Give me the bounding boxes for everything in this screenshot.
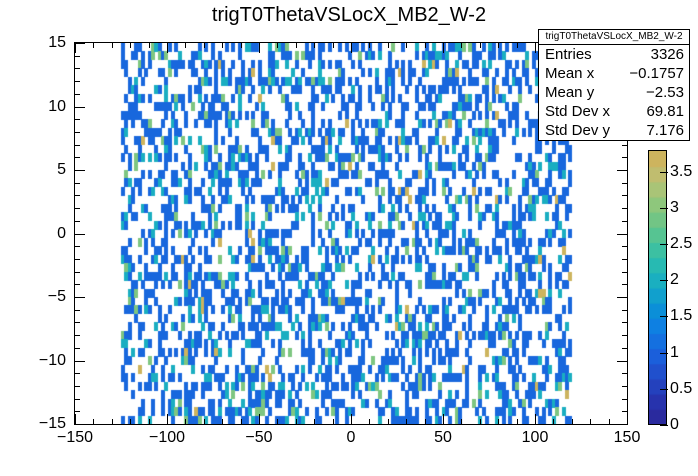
x-axis-major-tick-top	[351, 43, 352, 53]
stats-row: Std Dev x69.81	[539, 102, 689, 121]
color-bar-tick	[660, 172, 668, 173]
x-axis-minor-tick	[241, 419, 242, 424]
x-axis-major-tick	[75, 414, 76, 424]
y-axis-minor-tick-right	[622, 195, 627, 196]
x-axis-minor-tick-top	[498, 43, 499, 48]
x-axis-minor-tick-top	[277, 43, 278, 48]
y-axis-minor-tick-right	[622, 386, 627, 387]
stats-row-value: 69.81	[646, 102, 684, 121]
x-axis-major-tick	[535, 414, 536, 424]
x-axis-minor-tick-top	[425, 43, 426, 48]
stats-rows: Entries3326Mean x−0.1757Mean y−2.53Std D…	[539, 45, 689, 140]
y-axis-minor-tick-right	[622, 145, 627, 146]
x-axis-tick-label: 0	[347, 429, 356, 447]
y-axis-minor-tick	[75, 310, 80, 311]
y-axis-minor-tick-right	[622, 208, 627, 209]
x-axis-minor-tick	[572, 419, 573, 424]
y-axis-minor-tick	[75, 81, 80, 82]
y-axis-tick-label: 15	[0, 34, 66, 52]
y-axis-major-tick	[75, 234, 85, 235]
color-bar-tick-label: 3.5	[670, 163, 692, 181]
root-canvas: trigT0ThetaVSLocX_MB2_W-2 −150−100−50050…	[0, 0, 698, 476]
color-bar-tick-label: 0	[670, 416, 679, 434]
y-axis-minor-tick	[75, 145, 80, 146]
stats-row: Mean x−0.1757	[539, 64, 689, 83]
color-bar-tick-label: 2.5	[670, 235, 692, 253]
x-axis-minor-tick-top	[333, 43, 334, 48]
x-axis-minor-tick	[204, 419, 205, 424]
x-axis-minor-tick	[425, 419, 426, 424]
stats-row-value: −0.1757	[629, 64, 684, 83]
x-axis-minor-tick	[314, 419, 315, 424]
y-axis-minor-tick-right	[622, 348, 627, 349]
x-axis-minor-tick	[222, 419, 223, 424]
y-axis-major-tick	[75, 170, 85, 171]
x-axis-minor-tick	[277, 419, 278, 424]
y-axis-minor-tick	[75, 399, 80, 400]
color-bar-gradient	[649, 151, 666, 424]
y-axis-minor-tick	[75, 322, 80, 323]
x-axis-minor-tick-top	[149, 43, 150, 48]
color-bar-tick	[660, 244, 668, 245]
stats-row: Mean y−2.53	[539, 83, 689, 102]
y-axis-tick-label: 10	[0, 98, 66, 116]
x-axis-minor-tick	[333, 419, 334, 424]
stats-row-value: −2.53	[646, 83, 684, 102]
y-axis-major-tick-right	[617, 234, 627, 235]
stats-row: Entries3326	[539, 45, 689, 64]
x-axis-tick-label: 50	[434, 429, 452, 447]
y-axis-major-tick-right	[617, 297, 627, 298]
y-axis-tick-label: −5	[0, 288, 66, 306]
y-axis-tick-label: 5	[0, 161, 66, 179]
stats-row-value: 7.176	[646, 121, 684, 140]
x-axis-minor-tick	[480, 419, 481, 424]
y-axis-minor-tick-right	[622, 373, 627, 374]
y-axis-minor-tick-right	[622, 157, 627, 158]
y-axis-minor-tick-right	[622, 221, 627, 222]
x-axis-major-tick	[259, 414, 260, 424]
x-axis-major-tick-top	[259, 43, 260, 53]
x-axis-minor-tick-top	[388, 43, 389, 48]
y-axis-minor-tick	[75, 157, 80, 158]
color-bar-tick	[660, 389, 668, 390]
y-axis-minor-tick	[75, 56, 80, 57]
x-axis-minor-tick-top	[93, 43, 94, 48]
color-bar-tick	[660, 425, 668, 426]
page-title: trigT0ThetaVSLocX_MB2_W-2	[0, 4, 698, 27]
y-axis-minor-tick-right	[622, 399, 627, 400]
y-axis-minor-tick-right	[622, 259, 627, 260]
y-axis-minor-tick-right	[622, 335, 627, 336]
y-axis-minor-tick	[75, 348, 80, 349]
y-axis-major-tick	[75, 424, 85, 425]
y-axis-major-tick-right	[617, 361, 627, 362]
y-axis-minor-tick-right	[622, 246, 627, 247]
y-axis-minor-tick	[75, 221, 80, 222]
x-axis-minor-tick	[185, 419, 186, 424]
stats-row: Std Dev y7.176	[539, 121, 689, 140]
x-axis-minor-tick	[130, 419, 131, 424]
stats-box[interactable]: trigT0ThetaVSLocX_MB2_W-2 Entries3326Mea…	[538, 29, 690, 141]
x-axis-tick-label: 100	[522, 429, 549, 447]
y-axis-tick-label: 0	[0, 225, 66, 243]
stats-row-key: Mean y	[545, 83, 594, 102]
color-bar-tick-label: 1.5	[670, 307, 692, 325]
stats-row-value: 3326	[651, 45, 684, 64]
x-axis-tick-label: −100	[149, 429, 185, 447]
color-bar-tick-label: 3	[670, 199, 679, 217]
y-axis-minor-tick	[75, 373, 80, 374]
x-axis-major-tick	[627, 414, 628, 424]
stats-row-key: Std Dev x	[545, 102, 610, 121]
y-axis-minor-tick	[75, 119, 80, 120]
x-axis-major-tick-top	[167, 43, 168, 53]
x-axis-minor-tick-top	[185, 43, 186, 48]
x-axis-minor-tick-top	[241, 43, 242, 48]
color-bar-tick-label: 2	[670, 271, 679, 289]
y-axis-major-tick	[75, 43, 85, 44]
y-axis-minor-tick	[75, 94, 80, 95]
color-bar-tick-label: 0.5	[670, 380, 692, 398]
y-axis-tick-label: −15	[0, 415, 66, 433]
y-axis-minor-tick-right	[622, 272, 627, 273]
y-axis-minor-tick	[75, 284, 80, 285]
x-axis-minor-tick	[388, 419, 389, 424]
y-axis-major-tick-right	[617, 170, 627, 171]
y-axis-minor-tick	[75, 208, 80, 209]
y-axis-minor-tick	[75, 386, 80, 387]
color-bar-tick	[660, 208, 668, 209]
x-axis-major-tick	[351, 414, 352, 424]
x-axis-minor-tick-top	[112, 43, 113, 48]
y-axis-minor-tick	[75, 411, 80, 412]
x-axis-minor-tick	[517, 419, 518, 424]
x-axis-minor-tick	[93, 419, 94, 424]
stats-box-title: trigT0ThetaVSLocX_MB2_W-2	[539, 30, 689, 45]
y-axis-minor-tick	[75, 272, 80, 273]
x-axis-minor-tick-top	[314, 43, 315, 48]
y-axis-minor-tick	[75, 246, 80, 247]
x-axis-major-tick	[167, 414, 168, 424]
y-axis-minor-tick	[75, 335, 80, 336]
color-bar-tick	[660, 316, 668, 317]
x-axis-minor-tick	[461, 419, 462, 424]
x-axis-minor-tick	[112, 419, 113, 424]
y-axis-minor-tick	[75, 68, 80, 69]
x-axis-major-tick-top	[75, 43, 76, 53]
x-axis-minor-tick-top	[406, 43, 407, 48]
x-axis-minor-tick	[406, 419, 407, 424]
color-bar-tick-label: 1	[670, 344, 679, 362]
x-axis-minor-tick	[498, 419, 499, 424]
y-axis-minor-tick	[75, 259, 80, 260]
y-axis-major-tick	[75, 107, 85, 108]
x-axis-minor-tick	[149, 419, 150, 424]
x-axis-minor-tick-top	[517, 43, 518, 48]
color-bar-tick	[660, 280, 668, 281]
y-axis-tick-label: −10	[0, 352, 66, 370]
y-axis-minor-tick-right	[622, 310, 627, 311]
x-axis-minor-tick	[296, 419, 297, 424]
stats-row-key: Std Dev y	[545, 121, 610, 140]
x-axis-tick-label: 150	[614, 429, 641, 447]
stats-row-key: Mean x	[545, 64, 594, 83]
x-axis-tick-label: −50	[245, 429, 272, 447]
y-axis-major-tick-right	[617, 424, 627, 425]
x-axis-minor-tick-top	[204, 43, 205, 48]
x-axis-minor-tick	[369, 419, 370, 424]
y-axis-minor-tick-right	[622, 322, 627, 323]
y-axis-major-tick	[75, 297, 85, 298]
x-axis-minor-tick	[553, 419, 554, 424]
x-axis-minor-tick-top	[222, 43, 223, 48]
x-axis-minor-tick-top	[461, 43, 462, 48]
x-axis-major-tick-top	[535, 43, 536, 53]
y-axis-major-tick	[75, 361, 85, 362]
y-axis-minor-tick	[75, 132, 80, 133]
x-axis-minor-tick-top	[480, 43, 481, 48]
y-axis-minor-tick-right	[622, 183, 627, 184]
stats-row-key: Entries	[545, 45, 592, 64]
color-bar	[648, 150, 667, 425]
y-axis-minor-tick	[75, 183, 80, 184]
y-axis-minor-tick-right	[622, 411, 627, 412]
x-axis-major-tick-top	[443, 43, 444, 53]
y-axis-minor-tick	[75, 195, 80, 196]
x-axis-major-tick	[443, 414, 444, 424]
color-bar-tick	[660, 353, 668, 354]
x-axis-minor-tick-top	[130, 43, 131, 48]
x-axis-minor-tick	[590, 419, 591, 424]
x-axis-minor-tick-top	[296, 43, 297, 48]
x-axis-minor-tick-top	[369, 43, 370, 48]
y-axis-minor-tick-right	[622, 284, 627, 285]
x-axis-minor-tick	[609, 419, 610, 424]
